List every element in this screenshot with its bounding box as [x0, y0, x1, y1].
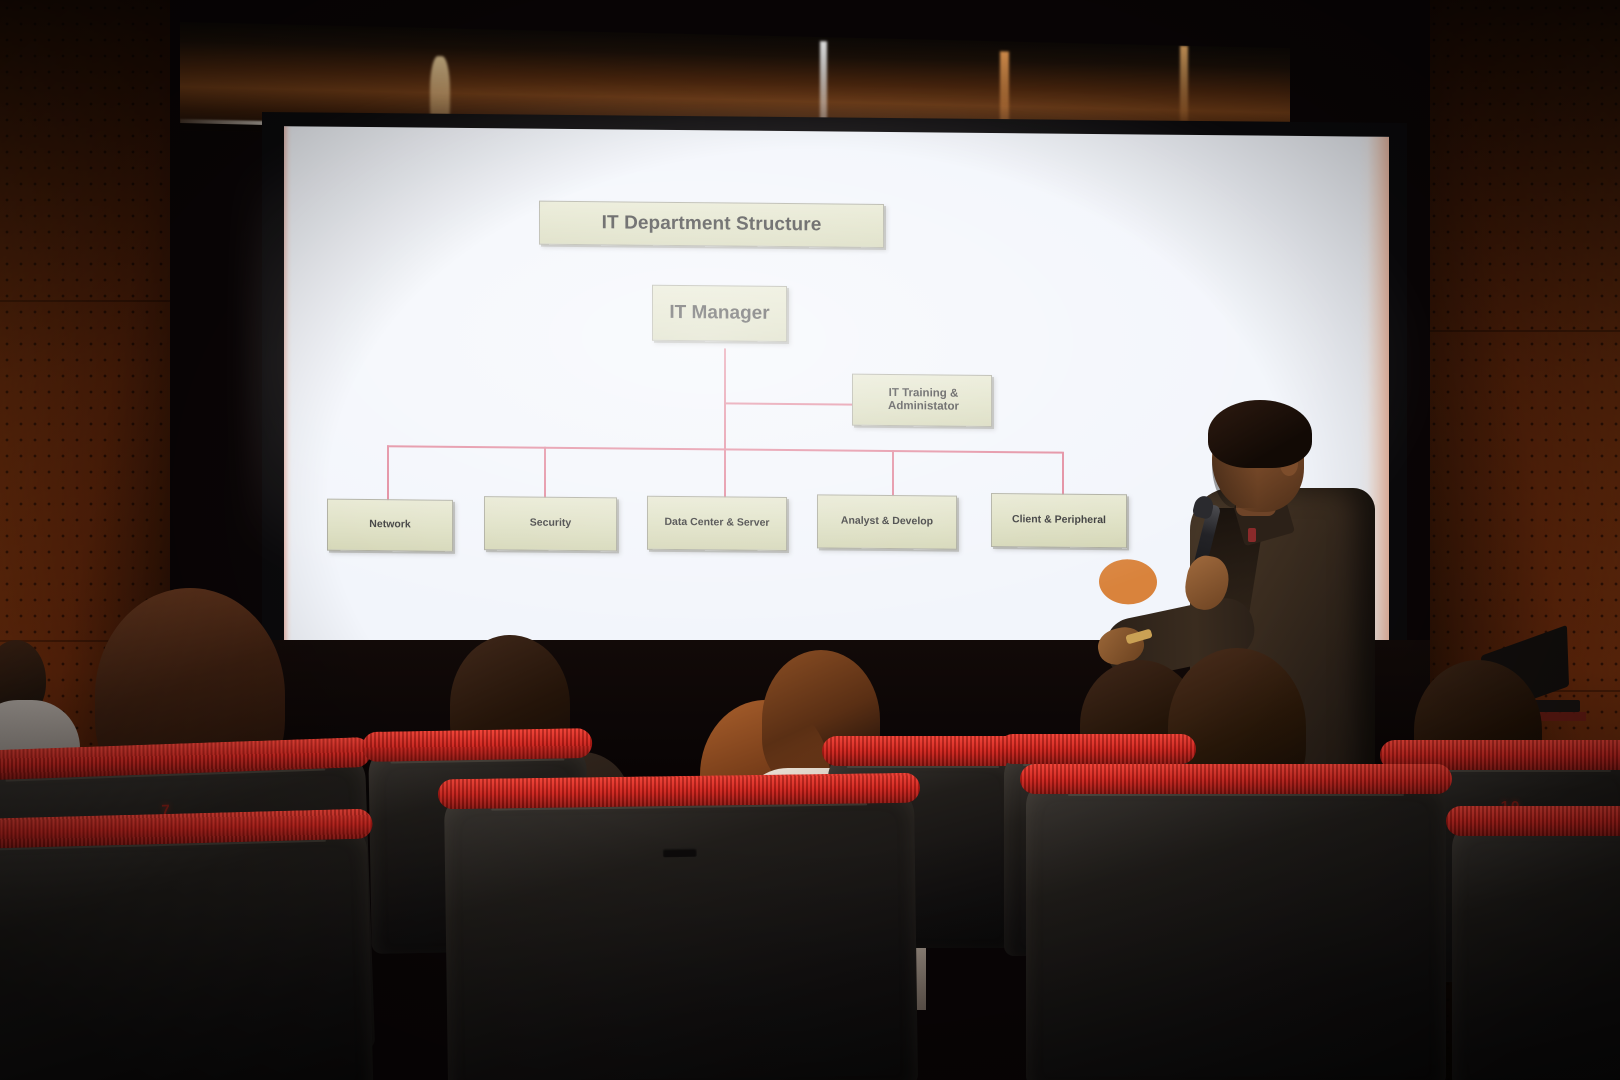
- connector-child-1: [387, 445, 389, 500]
- node-network: Network: [327, 499, 453, 552]
- node-data-center-server-label: Data Center & Server: [664, 517, 769, 530]
- node-data-center-server: Data Center & Server: [647, 496, 787, 551]
- node-title-label: IT Department Structure: [602, 213, 822, 236]
- seat-seam: [1068, 794, 1404, 796]
- seat-row-front-right[interactable]: [1026, 776, 1446, 1080]
- connector-child-2: [544, 447, 546, 502]
- node-security: Security: [484, 496, 617, 551]
- seat-trim: [822, 736, 1024, 766]
- seat-trim: [1446, 806, 1620, 836]
- seat-trim: [362, 728, 592, 762]
- auditorium-scene: IT Department Structure IT Manager IT Tr…: [0, 0, 1620, 1080]
- node-it-manager-label: IT Manager: [669, 302, 769, 324]
- connector-admin-branch: [724, 402, 854, 405]
- presenter-hair: [1208, 400, 1312, 468]
- presenter-lapel-pin: [1248, 528, 1256, 542]
- seat-row-front-left[interactable]: [0, 821, 373, 1080]
- seat-trim: [998, 734, 1196, 764]
- node-client-peripheral-label: Client & Peripheral: [1012, 514, 1106, 526]
- node-client-peripheral: Client & Peripheral: [991, 493, 1127, 548]
- node-analyst-develop-label: Analyst & Develop: [841, 516, 933, 528]
- connector-child-3: [724, 448, 726, 503]
- node-it-training-administator: IT Training & Administator: [852, 374, 992, 427]
- node-security-label: Security: [530, 518, 571, 530]
- seat-clip: [663, 848, 697, 857]
- node-title: IT Department Structure: [539, 201, 884, 248]
- decorative-ellipse: [1099, 559, 1157, 605]
- seat-seam: [847, 766, 999, 768]
- node-analyst-develop: Analyst & Develop: [817, 494, 957, 549]
- node-network-label: Network: [369, 519, 410, 531]
- seat-row-front-far-right[interactable]: [1452, 818, 1620, 1080]
- seat-row-front-mid[interactable]: [444, 785, 918, 1080]
- node-it-training-administator-label: IT Training & Administator: [856, 387, 991, 414]
- seat-trim: [1020, 764, 1452, 794]
- node-it-manager: IT Manager: [652, 285, 787, 342]
